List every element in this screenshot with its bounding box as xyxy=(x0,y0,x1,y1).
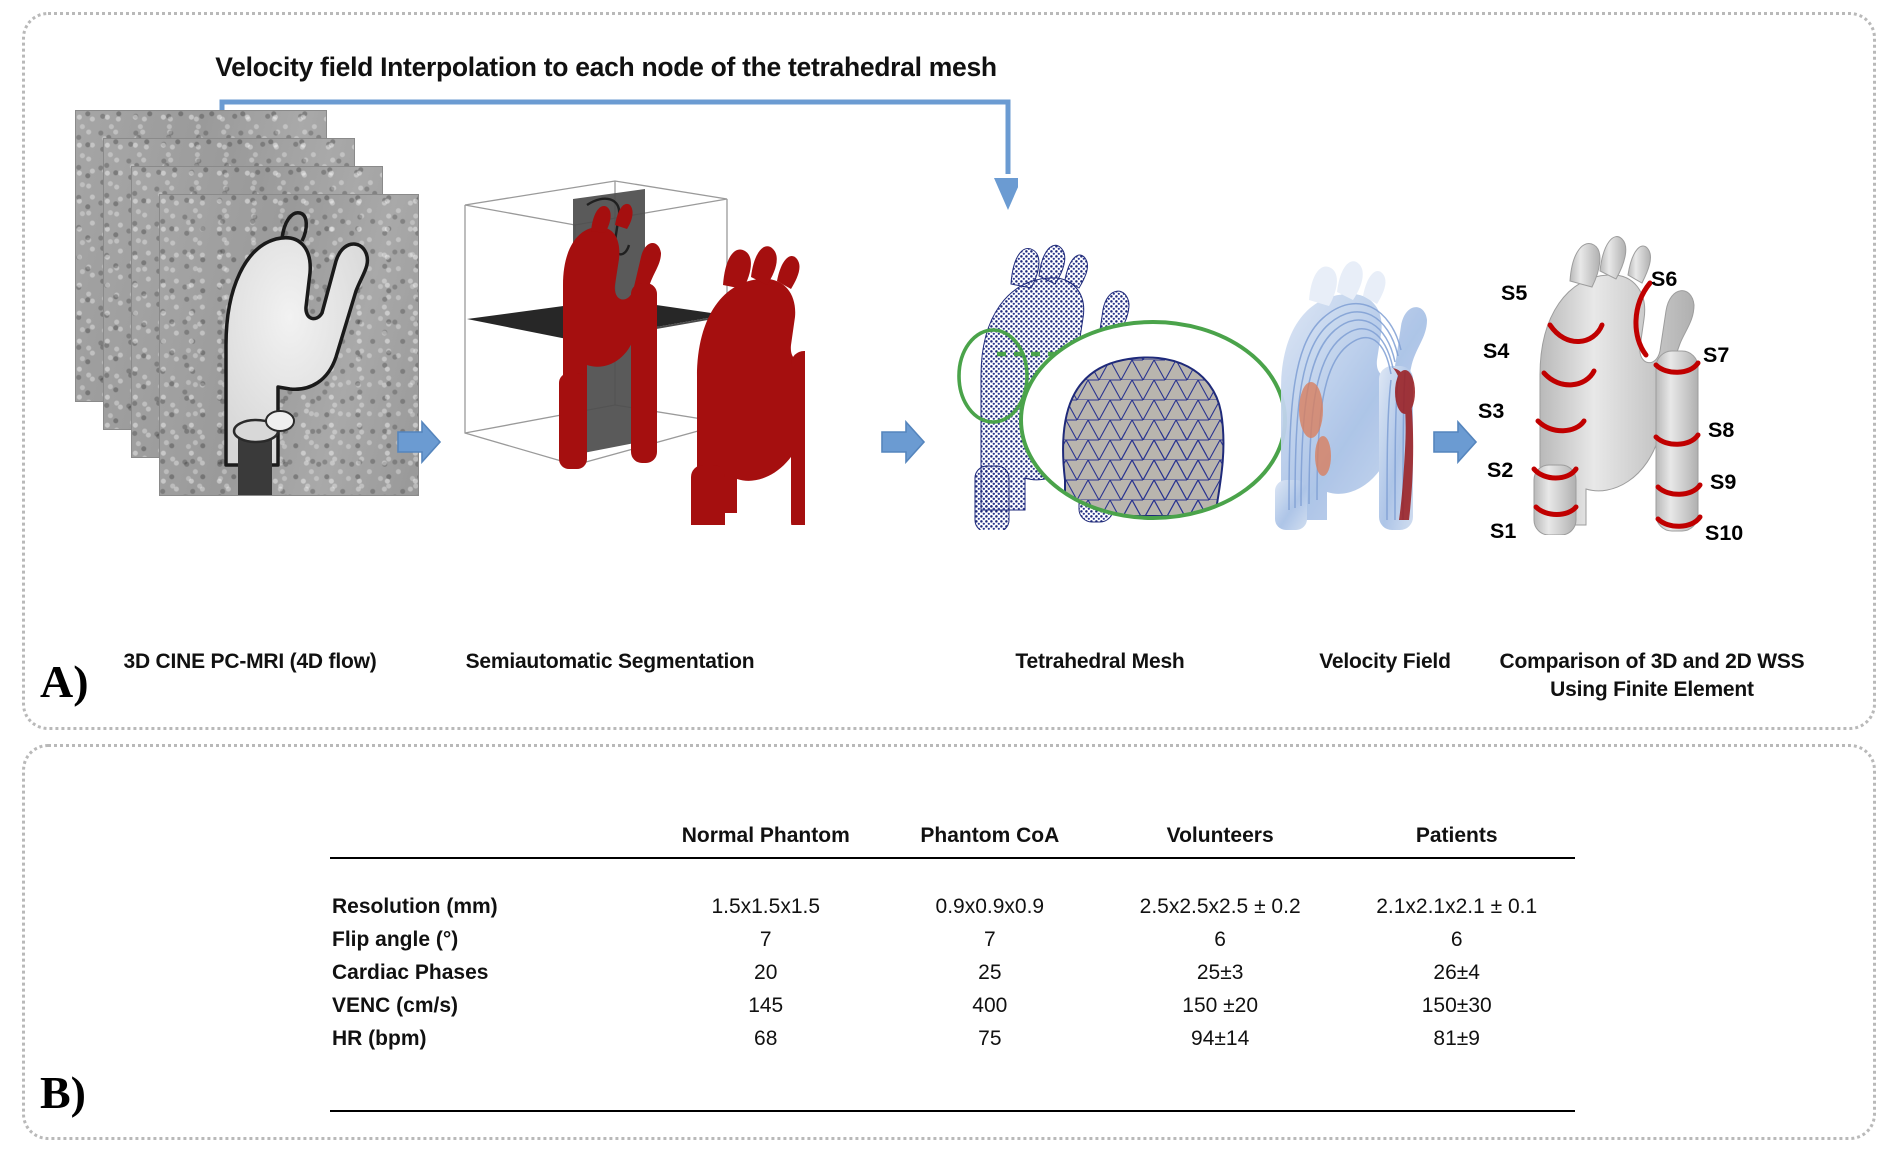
col-header-blank xyxy=(330,818,654,858)
flow-arrow-1 xyxy=(396,420,442,464)
plane-label-s7: S7 xyxy=(1703,343,1729,368)
row-label-cardiac-phases: Cardiac Phases xyxy=(330,956,654,989)
table-row: Flip angle (°) 7 7 6 6 xyxy=(330,923,1575,956)
cell-cardiac-phases-volunteers: 25±3 xyxy=(1102,956,1339,989)
plane-label-s1: S1 xyxy=(1490,519,1516,544)
flow-title: Velocity field Interpolation to each nod… xyxy=(196,52,1016,83)
flow-arrow-3 xyxy=(1432,420,1478,464)
plane-label-s10: S10 xyxy=(1705,521,1743,546)
cell-venc-phantom-coa: 400 xyxy=(878,989,1102,1022)
mri-aorta-slice xyxy=(160,195,418,495)
panel-b-letter: B) xyxy=(40,1066,86,1119)
cell-hr-volunteers: 94±14 xyxy=(1102,1022,1339,1055)
row-label-resolution: Resolution (mm) xyxy=(330,890,654,923)
cell-resolution-volunteers: 2.5x2.5x2.5 ± 0.2 xyxy=(1102,890,1339,923)
cell-venc-volunteers: 150 ±20 xyxy=(1102,989,1339,1022)
stage-caption-mesh: Tetrahedral Mesh xyxy=(930,648,1270,676)
tetrahedral-mesh-render xyxy=(945,180,1295,530)
row-label-hr: HR (bpm) xyxy=(330,1022,654,1055)
figure-canvas: A) Velocity field Interpolation to each … xyxy=(0,0,1898,1149)
cell-hr-normal-phantom: 68 xyxy=(654,1022,878,1055)
cell-resolution-patients: 2.1x2.1x2.1 ± 0.1 xyxy=(1338,890,1575,923)
cell-hr-patients: 81±9 xyxy=(1338,1022,1575,1055)
col-header-volunteers: Volunteers xyxy=(1102,818,1339,858)
cell-venc-patients: 150±30 xyxy=(1338,989,1575,1022)
cell-cardiac-phases-phantom-coa: 25 xyxy=(878,956,1102,989)
table-header-row: Normal Phantom Phantom CoA Volunteers Pa… xyxy=(330,818,1575,858)
plane-label-s6: S6 xyxy=(1651,267,1677,292)
cell-resolution-phantom-coa: 0.9x0.9x0.9 xyxy=(878,890,1102,923)
table-rule-bottom xyxy=(330,1055,1575,1111)
col-header-phantom-coa: Phantom CoA xyxy=(878,818,1102,858)
cell-venc-normal-phantom: 145 xyxy=(654,989,878,1022)
plane-label-s8: S8 xyxy=(1708,418,1734,443)
plane-label-s3: S3 xyxy=(1478,399,1504,424)
stage-caption-wss-line2: Using Finite Element xyxy=(1432,676,1872,704)
stage-caption-segmentation: Semiautomatic Segmentation xyxy=(420,648,800,676)
segmentation-render xyxy=(455,165,805,525)
cell-cardiac-phases-normal-phantom: 20 xyxy=(654,956,878,989)
table-row: Cardiac Phases 20 25 25±3 26±4 xyxy=(330,956,1575,989)
acquisition-parameters-table-wrap: Normal Phantom Phantom CoA Volunteers Pa… xyxy=(330,818,1575,1112)
velocity-field-render xyxy=(1255,200,1505,530)
row-label-venc: VENC (cm/s) xyxy=(330,989,654,1022)
table-rule-top xyxy=(330,858,1575,890)
acquisition-parameters-table: Normal Phantom Phantom CoA Volunteers Pa… xyxy=(330,818,1575,1112)
plane-label-s2: S2 xyxy=(1487,458,1513,483)
cell-flip-angle-patients: 6 xyxy=(1338,923,1575,956)
col-header-patients: Patients xyxy=(1338,818,1575,858)
cell-flip-angle-normal-phantom: 7 xyxy=(654,923,878,956)
mri-slice-stack xyxy=(75,110,435,520)
table-row: HR (bpm) 68 75 94±14 81±9 xyxy=(330,1022,1575,1055)
plane-label-s5: S5 xyxy=(1501,281,1527,306)
cell-flip-angle-volunteers: 6 xyxy=(1102,923,1339,956)
cell-resolution-normal-phantom: 1.5x1.5x1.5 xyxy=(654,890,878,923)
flow-arrow-2 xyxy=(880,420,926,464)
cell-flip-angle-phantom-coa: 7 xyxy=(878,923,1102,956)
col-header-normal-phantom: Normal Phantom xyxy=(654,818,878,858)
table-row: VENC (cm/s) 145 400 150 ±20 150±30 xyxy=(330,989,1575,1022)
stage-caption-wss-line1: Comparison of 3D and 2D WSS xyxy=(1432,648,1872,676)
table-row: Resolution (mm) 1.5x1.5x1.5 0.9x0.9x0.9 … xyxy=(330,890,1575,923)
cell-hr-phantom-coa: 75 xyxy=(878,1022,1102,1055)
plane-label-s9: S9 xyxy=(1710,470,1736,495)
row-label-flip-angle: Flip angle (°) xyxy=(330,923,654,956)
plane-label-s4: S4 xyxy=(1483,339,1509,364)
cell-cardiac-phases-patients: 26±4 xyxy=(1338,956,1575,989)
stage-caption-mri: 3D CINE PC-MRI (4D flow) xyxy=(55,648,445,676)
